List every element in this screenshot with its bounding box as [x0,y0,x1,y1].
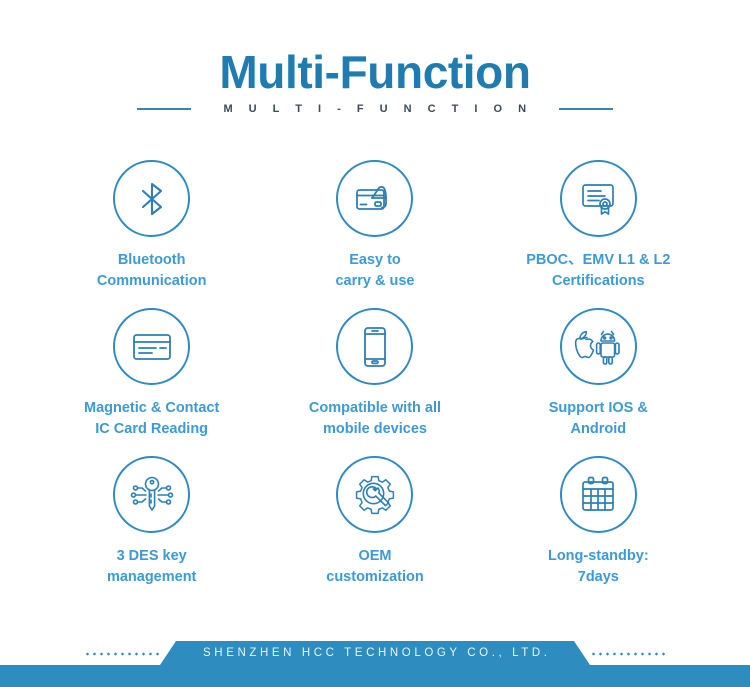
bluetooth-icon [113,160,190,237]
feature-grid: Bluetooth Communication Easy to carry & … [0,160,750,604]
credit-card-icon [113,308,190,385]
feature-label: PBOC、EMV L1 & L2 Certifications [526,250,670,292]
feature-label: 3 DES key management [107,546,196,588]
feature-item-oem: OEM customization [263,456,486,604]
key-circuit-icon [113,456,190,533]
page-header: Multi-Function M U L T I - F U N C T I O… [0,0,750,150]
feature-label: Magnetic & Contact IC Card Reading [84,398,219,440]
feature-item-standby: Long-standby: 7days [487,456,710,604]
feature-item-certifications: PBOC、EMV L1 & L2 Certifications [487,160,710,308]
feature-item-bluetooth: Bluetooth Communication [40,160,263,308]
calendar-icon [560,456,637,533]
footer-company-name: SHENZHEN HCC TECHNOLOGY CO., LTD. [0,642,750,664]
feature-item-os-support: Support IOS & Android [487,308,710,456]
page-subtitle: M U L T I - F U N C T I O N [191,103,558,115]
feature-label: Support IOS & Android [549,398,648,440]
feature-item-des-key: 3 DES key management [40,456,263,604]
feature-item-mobile-compatible: Compatible with all mobile devices [263,308,486,456]
apple-android-icon [560,308,637,385]
feature-item-card-reading: Magnetic & Contact IC Card Reading [40,308,263,456]
subtitle-rule-left [137,108,191,110]
feature-item-easy-to-carry: Easy to carry & use [263,160,486,308]
page-title: Multi-Function [0,44,750,100]
footer-base-bar [0,665,750,687]
swipe-card-icon [336,160,413,237]
subtitle-row: M U L T I - F U N C T I O N [0,103,750,115]
certificate-icon [560,160,637,237]
feature-label: Bluetooth Communication [97,250,207,292]
feature-label: Long-standby: 7days [548,546,649,588]
page-footer: SHENZHEN HCC TECHNOLOGY CO., LTD. [0,627,750,687]
feature-label: Easy to carry & use [335,250,414,292]
smartphone-icon [336,308,413,385]
subtitle-rule-right [559,108,613,110]
feature-label: Compatible with all mobile devices [309,398,441,440]
feature-label: OEM customization [326,546,423,588]
gear-wrench-icon [336,456,413,533]
